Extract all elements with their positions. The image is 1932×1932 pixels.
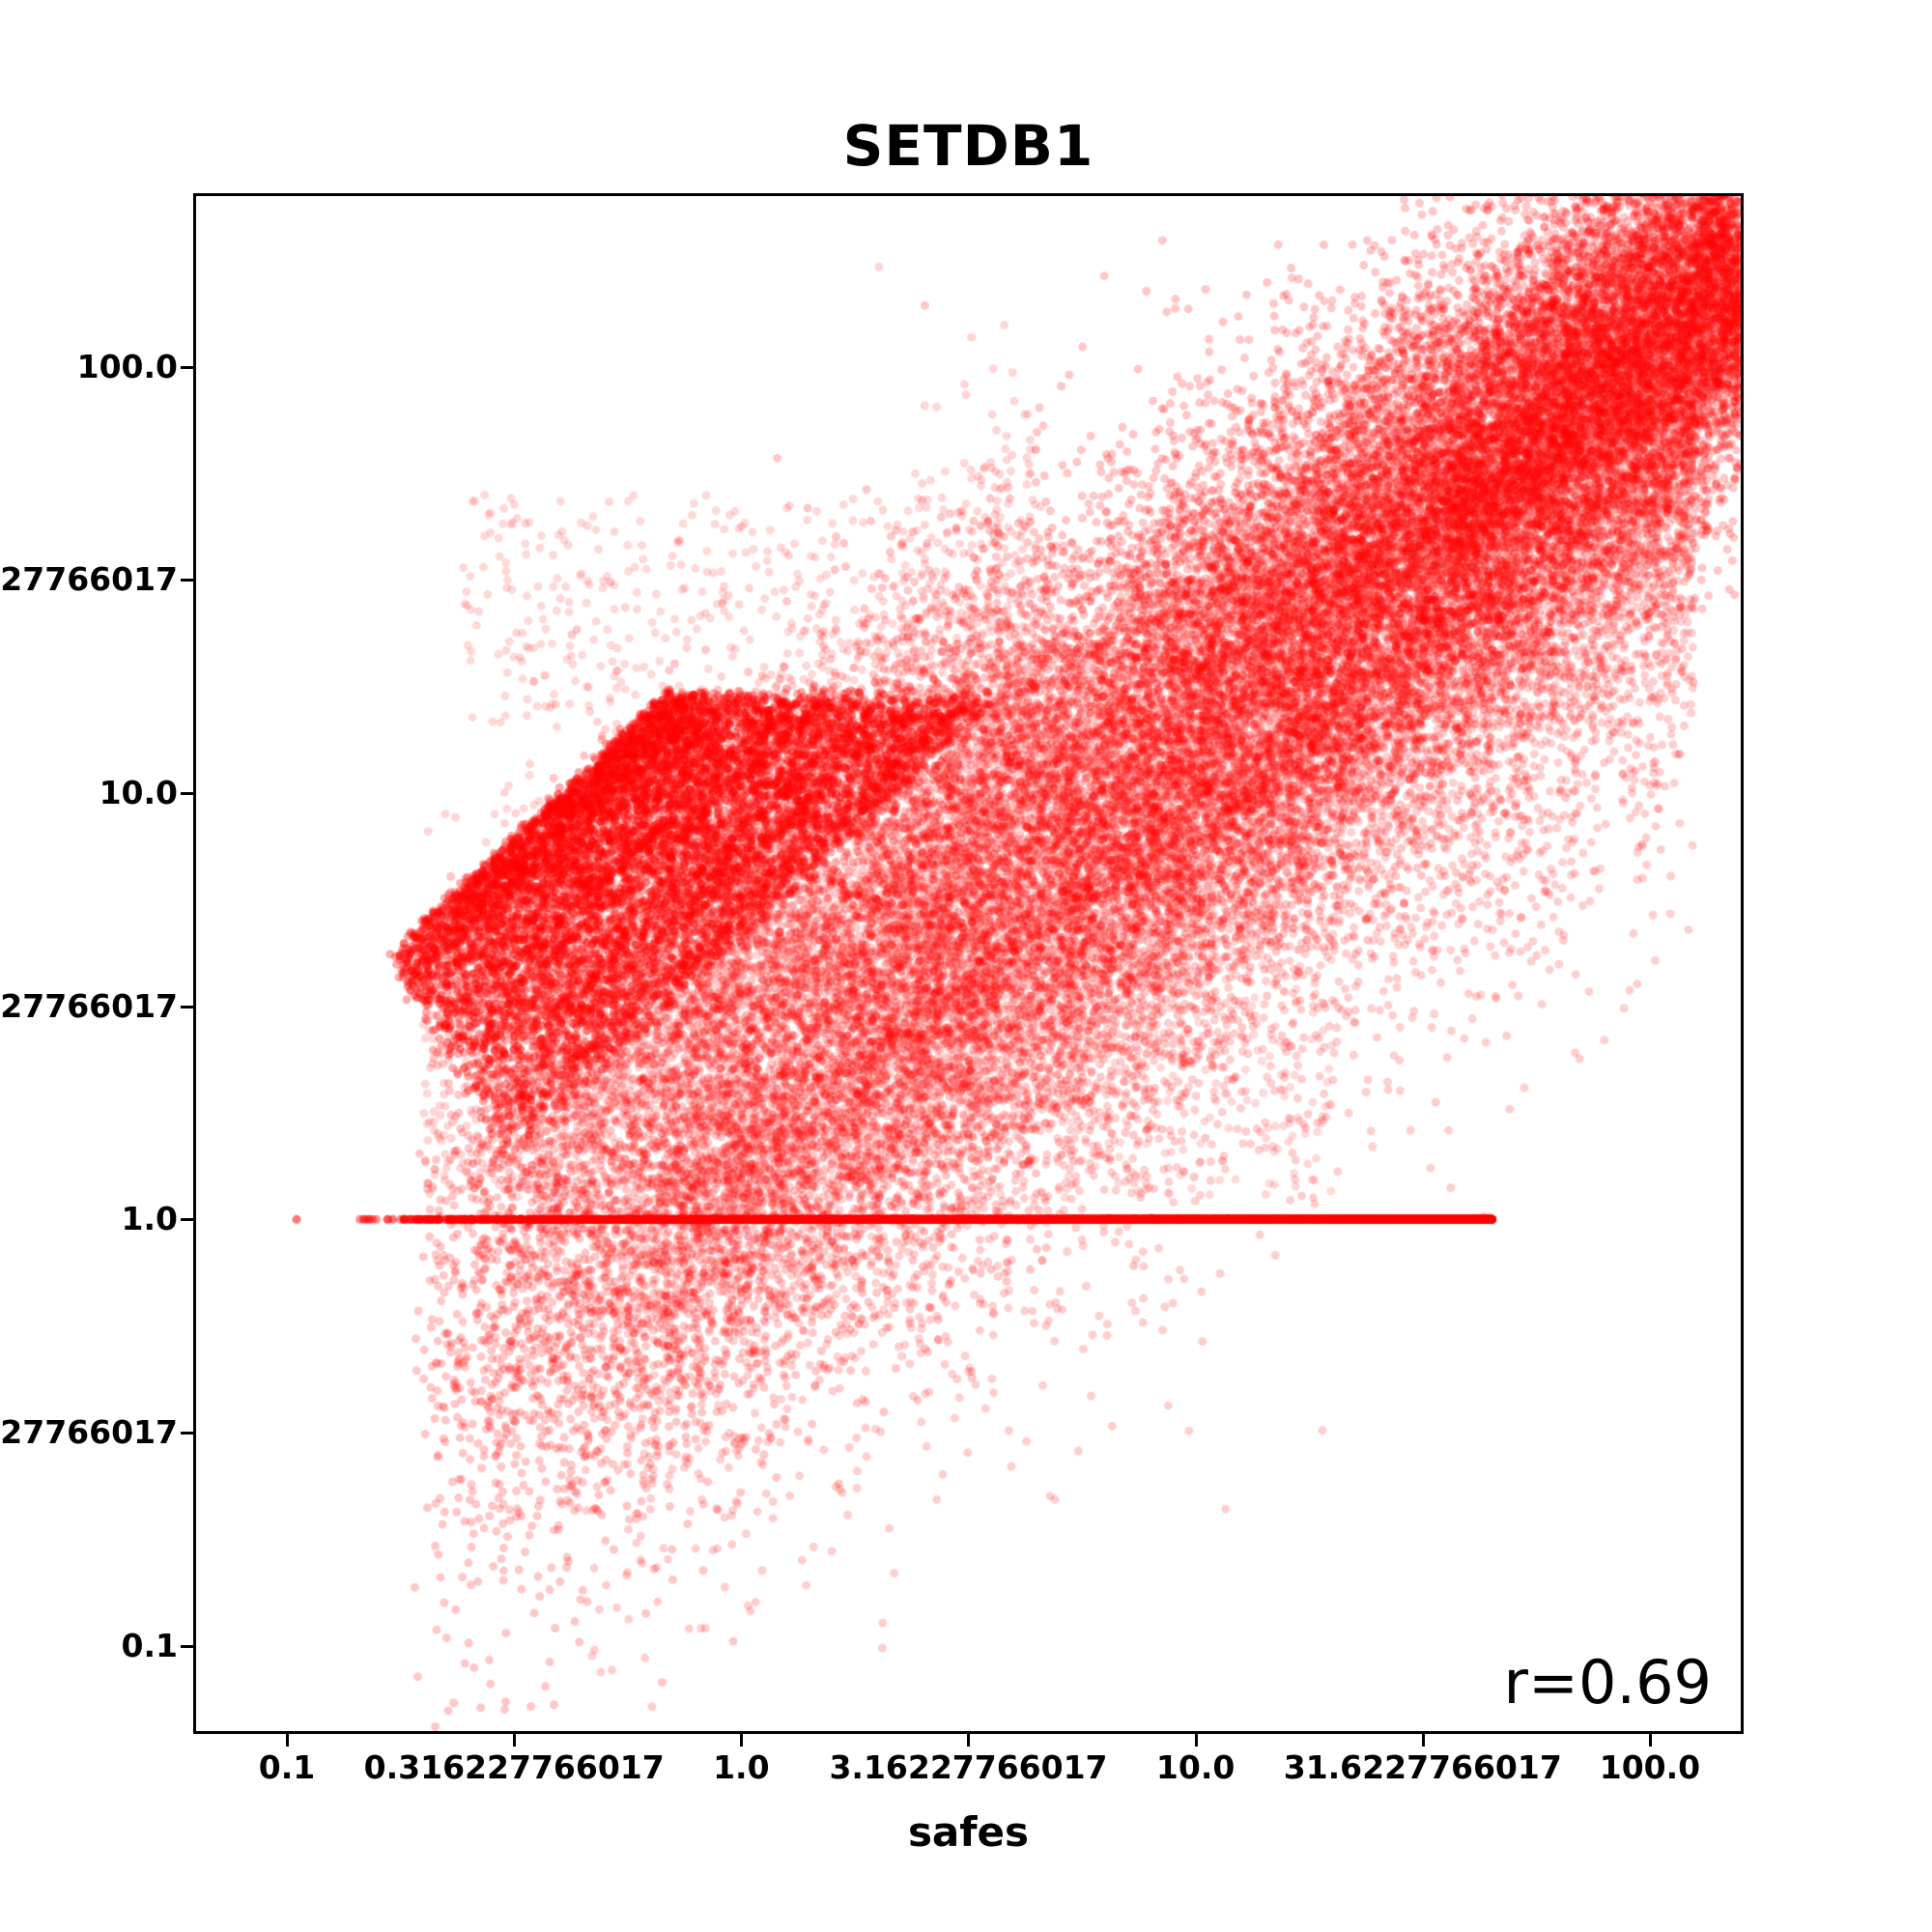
x-tick-mark bbox=[1422, 1734, 1425, 1747]
x-tick-label: 31.6227766017 bbox=[1284, 1750, 1562, 1785]
x-tick-mark bbox=[1649, 1734, 1652, 1747]
y-tick-label: 3.16227766017 bbox=[0, 989, 178, 1024]
x-tick-mark bbox=[1195, 1734, 1198, 1747]
scatter-plot-canvas bbox=[196, 196, 1741, 1731]
y-tick-label: 0.1 bbox=[122, 1629, 178, 1663]
page-title: SETDB1 bbox=[193, 116, 1744, 176]
y-tick-mark bbox=[181, 1006, 193, 1009]
x-tick-mark bbox=[740, 1734, 743, 1747]
y-tick-mark bbox=[181, 579, 193, 582]
y-tick-mark bbox=[181, 366, 193, 369]
y-tick-mark bbox=[181, 792, 193, 795]
x-tick-label: 100.0 bbox=[1600, 1750, 1700, 1785]
x-tick-mark bbox=[967, 1734, 970, 1747]
y-tick-label: 10.0 bbox=[99, 776, 178, 810]
x-tick-label: 0.1 bbox=[259, 1750, 315, 1785]
y-tick-mark bbox=[181, 1432, 193, 1435]
y-tick-label: 0.316227766017 bbox=[0, 1415, 178, 1450]
x-tick-label: 0.316227766017 bbox=[364, 1750, 665, 1785]
x-axis-title: safes bbox=[193, 1808, 1744, 1856]
y-tick-label: 1.0 bbox=[122, 1202, 178, 1236]
x-tick-mark bbox=[286, 1734, 289, 1747]
y-tick-mark bbox=[181, 1645, 193, 1648]
correlation-annotation: r=0.69 bbox=[1504, 1647, 1713, 1718]
plot-area[interactable]: r=0.69 bbox=[193, 193, 1744, 1734]
x-tick-label: 10.0 bbox=[1156, 1750, 1235, 1785]
y-tick-mark bbox=[181, 1218, 193, 1221]
y-tick-label: 100.0 bbox=[77, 350, 178, 384]
x-tick-label: 1.0 bbox=[713, 1750, 769, 1785]
x-tick-mark bbox=[513, 1734, 516, 1747]
figure-root: SETDB1 r=0.69 100.031.622776601710.03.16… bbox=[0, 0, 1932, 1932]
y-tick-label: 31.6227766017 bbox=[0, 562, 178, 597]
x-tick-label: 3.16227766017 bbox=[829, 1750, 1107, 1785]
